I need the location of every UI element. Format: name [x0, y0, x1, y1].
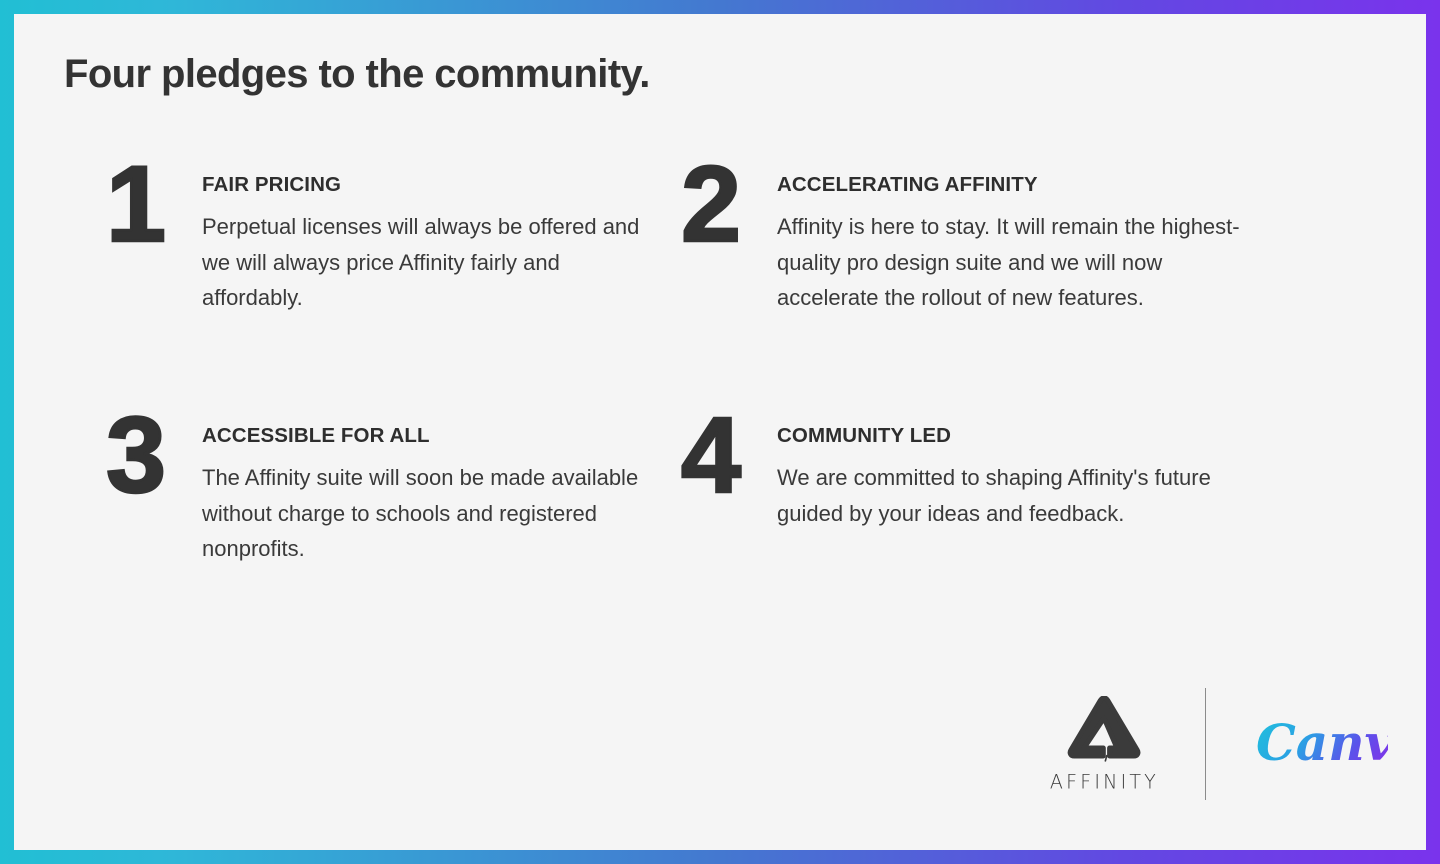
pledge-text-3: The Affinity suite will soon be made ava… [202, 460, 654, 567]
affinity-wordmark: AFFINITY [1050, 770, 1159, 793]
pledge-body-3: ACCESSIBLE FOR ALL The Affinity suite wi… [202, 415, 654, 567]
page-title: Four pledges to the community. [64, 52, 650, 97]
poster-canvas: Four pledges to the community. 1 FAIR PR… [14, 14, 1426, 850]
brand-lockup: AFFINITY Canva [1050, 686, 1388, 802]
pledge-text-1: Perpetual licenses will always be offere… [202, 209, 654, 316]
affinity-logo: AFFINITY [1050, 696, 1205, 793]
pledge-row-2: 3 ACCESSIBLE FOR ALL The Affinity suite … [14, 415, 1426, 567]
pledge-number-1: 1 [106, 156, 202, 251]
pledge-number-3: 3 [106, 407, 202, 502]
canva-logo: Canva [1206, 712, 1388, 776]
pledge-text-2: Affinity is here to stay. It will remain… [777, 209, 1247, 316]
pledge-item-2: 2 ACCELERATING AFFINITY Affinity is here… [654, 164, 1354, 316]
pledge-heading-2: ACCELERATING AFFINITY [777, 173, 1247, 197]
pledge-row-1: 1 FAIR PRICING Perpetual licenses will a… [14, 164, 1426, 316]
pledge-heading-1: FAIR PRICING [202, 173, 654, 197]
pledge-text-4: We are committed to shaping Affinity's f… [777, 460, 1247, 531]
affinity-triangle-icon [1067, 696, 1141, 762]
canva-wordmark-text: Canva [1256, 713, 1388, 772]
pledge-body-1: FAIR PRICING Perpetual licenses will alw… [202, 164, 654, 316]
pledge-item-4: 4 COMMUNITY LED We are committed to shap… [654, 415, 1354, 567]
poster: Four pledges to the community. 1 FAIR PR… [0, 0, 1440, 864]
pledge-grid: 1 FAIR PRICING Perpetual licenses will a… [14, 164, 1426, 567]
pledge-item-1: 1 FAIR PRICING Perpetual licenses will a… [14, 164, 654, 316]
pledge-body-4: COMMUNITY LED We are committed to shapin… [777, 415, 1247, 531]
pledge-heading-3: ACCESSIBLE FOR ALL [202, 424, 654, 448]
pledge-item-3: 3 ACCESSIBLE FOR ALL The Affinity suite … [14, 415, 654, 567]
pledge-number-4: 4 [681, 407, 777, 502]
pledge-heading-4: COMMUNITY LED [777, 424, 1247, 448]
canva-wordmark-icon: Canva [1254, 712, 1388, 776]
pledge-number-2: 2 [681, 156, 777, 251]
pledge-body-2: ACCELERATING AFFINITY Affinity is here t… [777, 164, 1247, 316]
